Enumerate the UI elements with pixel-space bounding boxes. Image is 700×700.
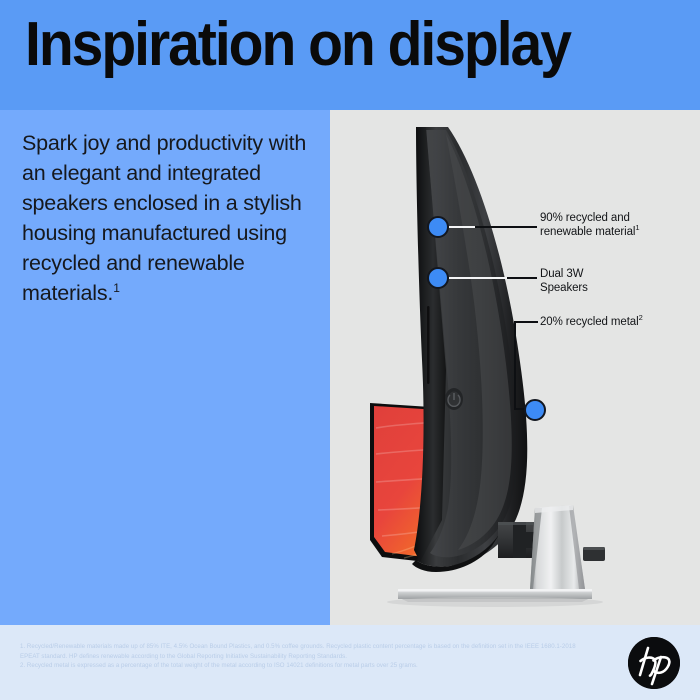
- callout-1-leader-dark: [475, 226, 537, 228]
- callout-2-leader-dark: [507, 277, 537, 279]
- footnotes: 1. Recycled/Renewable materials made up …: [20, 642, 580, 671]
- callout-2-leader-light: [449, 277, 507, 279]
- hp-logo: [628, 637, 680, 689]
- left-copy-panel: Spark joy and productivity with an elega…: [0, 110, 330, 625]
- body-copy: Spark joy and productivity with an elega…: [22, 128, 312, 308]
- marketing-slide: Inspiration on display Spark joy and pro…: [0, 0, 700, 700]
- callout-3-leader-vertical: [514, 321, 516, 410]
- callout-1-footnote-marker: 1: [635, 223, 639, 232]
- footnote-2: 2. Recycled metal is expressed as a perc…: [20, 661, 580, 671]
- footnote-1: 1. Recycled/Renewable materials made up …: [20, 642, 580, 661]
- stand-column: [530, 505, 605, 589]
- callout-1-line-2: renewable material: [540, 226, 635, 238]
- callout-dot-recycled-metal[interactable]: [524, 399, 546, 421]
- callout-2-line-2: Speakers: [540, 282, 588, 294]
- body-copy-footnote-marker: 1: [113, 281, 119, 295]
- callout-1-line-1: 90% recycled and: [540, 212, 630, 224]
- callout-label-speakers: Dual 3WSpeakers: [540, 268, 588, 295]
- speaker-slot: [427, 306, 430, 384]
- footer-band: 1. Recycled/Renewable materials made up …: [0, 625, 700, 700]
- callout-3-line-1: 20% recycled metal: [540, 316, 639, 328]
- callout-2-line-1: Dual 3W: [540, 268, 583, 280]
- power-button-detail: [445, 388, 463, 410]
- callout-3-leader-top: [514, 321, 538, 323]
- callout-3-footnote-marker: 2: [639, 313, 643, 322]
- body-copy-text: Spark joy and productivity with an elega…: [22, 131, 306, 305]
- callout-label-recycled-material: 90% recycled andrenewable material1: [540, 212, 639, 239]
- callout-1-leader-light: [449, 226, 475, 228]
- header-band: Inspiration on display: [0, 0, 700, 110]
- callout-dot-speakers[interactable]: [427, 267, 449, 289]
- callout-dot-recycled-material[interactable]: [427, 216, 449, 238]
- callout-label-recycled-metal: 20% recycled metal2: [540, 316, 643, 330]
- page-title: Inspiration on display: [25, 14, 570, 76]
